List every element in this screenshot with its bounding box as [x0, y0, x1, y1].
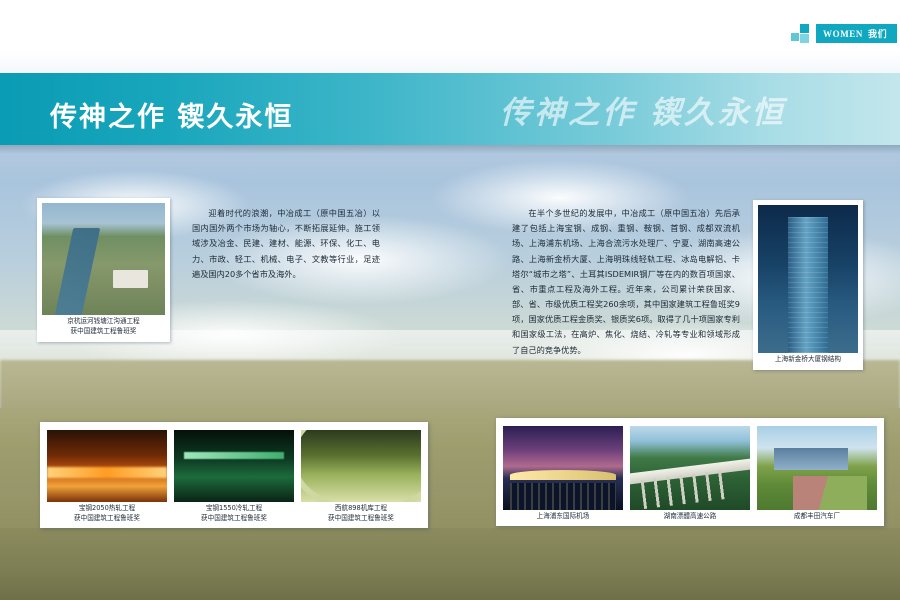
caption-line-1: 宝钢2050热轧工程	[47, 504, 167, 514]
panel-item: 成都丰田汽车厂	[757, 426, 877, 522]
photo-baosteel-hot-rolling	[47, 430, 167, 502]
caption-line-1: 上海新金桥大厦钢结构	[758, 355, 858, 365]
caption-xihang-hangar: 西航898机库工程 获中国建筑工程鲁班奖	[301, 502, 421, 524]
photo-hunan-highway	[630, 426, 750, 510]
grassland-near	[0, 528, 900, 600]
caption-baosteel-cold: 宝钢1550冷轧工程 获中国建筑工程鲁班奖	[174, 502, 294, 524]
photo-card-canal: 京杭运河钱塘江沟通工程 获中国建筑工程鲁班奖	[37, 198, 170, 342]
caption-tower: 上海新金桥大厦钢结构	[758, 353, 858, 365]
badge-label-cn: 我们	[868, 27, 887, 40]
band-ghost-title: 传神之作 锲久永恒	[500, 87, 786, 132]
panel-item: 西航898机库工程 获中国建筑工程鲁班奖	[301, 430, 421, 524]
photo-canal-project	[42, 203, 165, 315]
band-shadow	[0, 145, 900, 154]
caption-line-2: 获中国建筑工程鲁班奖	[42, 327, 165, 337]
panel-item: 宝钢1550冷轧工程 获中国建筑工程鲁班奖	[174, 430, 294, 524]
photo-panel-left: 宝钢2050热轧工程 获中国建筑工程鲁班奖 宝钢1550冷轧工程 获中国建筑工程…	[40, 422, 428, 528]
intro-text-left: 迎着时代的浪潮，中冶成工（原中国五冶）以国内国外两个市场为轴心，不断拓展延伸。施…	[192, 206, 380, 282]
women-badge: WOMEN 我们	[791, 24, 897, 43]
caption-line-1: 京杭运河钱塘江沟通工程	[42, 317, 165, 327]
caption-chengdu-toyota: 成都丰田汽车厂	[757, 510, 877, 522]
photo-panel-right: 上海浦东国际机场 湖南漂醴高速公路 成都丰田汽车厂	[496, 418, 884, 526]
photo-card-tower: 上海新金桥大厦钢结构	[753, 200, 863, 370]
badge-label-en: WOMEN	[823, 29, 863, 39]
caption-line-2: 获中国建筑工程鲁班奖	[174, 514, 294, 524]
badge-bar: WOMEN 我们	[816, 24, 897, 43]
caption-baosteel-hot: 宝钢2050热轧工程 获中国建筑工程鲁班奖	[47, 502, 167, 524]
caption-line-1: 上海浦东国际机场	[503, 512, 623, 522]
badge-squares-icon	[791, 24, 816, 43]
top-white-strip	[0, 0, 900, 73]
photo-chengdu-toyota-plant	[757, 426, 877, 510]
panel-item: 上海浦东国际机场	[503, 426, 623, 522]
panel-item: 湖南漂醴高速公路	[630, 426, 750, 522]
caption-line-1: 成都丰田汽车厂	[757, 512, 877, 522]
band-title: 传神之作 锲久永恒	[50, 95, 293, 134]
intro-paragraph-right: 在半个多世纪的发展中，中冶成工（原中国五冶）先后承建了包括上海宝钢、成钢、重钢、…	[512, 206, 740, 358]
caption-line-2: 获中国建筑工程鲁班奖	[301, 514, 421, 524]
intro-paragraph-left: 迎着时代的浪潮，中冶成工（原中国五冶）以国内国外两个市场为轴心，不断拓展延伸。施…	[192, 206, 380, 282]
intro-text-right: 在半个多世纪的发展中，中冶成工（原中国五冶）先后承建了包括上海宝钢、成钢、重钢、…	[512, 206, 740, 358]
photo-jinqiao-tower	[758, 205, 858, 353]
caption-line-1: 湖南漂醴高速公路	[630, 512, 750, 522]
caption-canal: 京杭运河钱塘江沟通工程 获中国建筑工程鲁班奖	[42, 315, 165, 337]
caption-line-1: 宝钢1550冷轧工程	[174, 504, 294, 514]
caption-line-1: 西航898机库工程	[301, 504, 421, 514]
caption-line-2: 获中国建筑工程鲁班奖	[47, 514, 167, 524]
title-band: 传神之作 锲久永恒 传神之作 锲久永恒	[0, 73, 900, 145]
photo-pudong-airport	[503, 426, 623, 510]
caption-hunan-highway: 湖南漂醴高速公路	[630, 510, 750, 522]
photo-baosteel-cold-rolling	[174, 430, 294, 502]
panel-item: 宝钢2050热轧工程 获中国建筑工程鲁班奖	[47, 430, 167, 524]
caption-pudong-airport: 上海浦东国际机场	[503, 510, 623, 522]
photo-xihang-hangar	[301, 430, 421, 502]
